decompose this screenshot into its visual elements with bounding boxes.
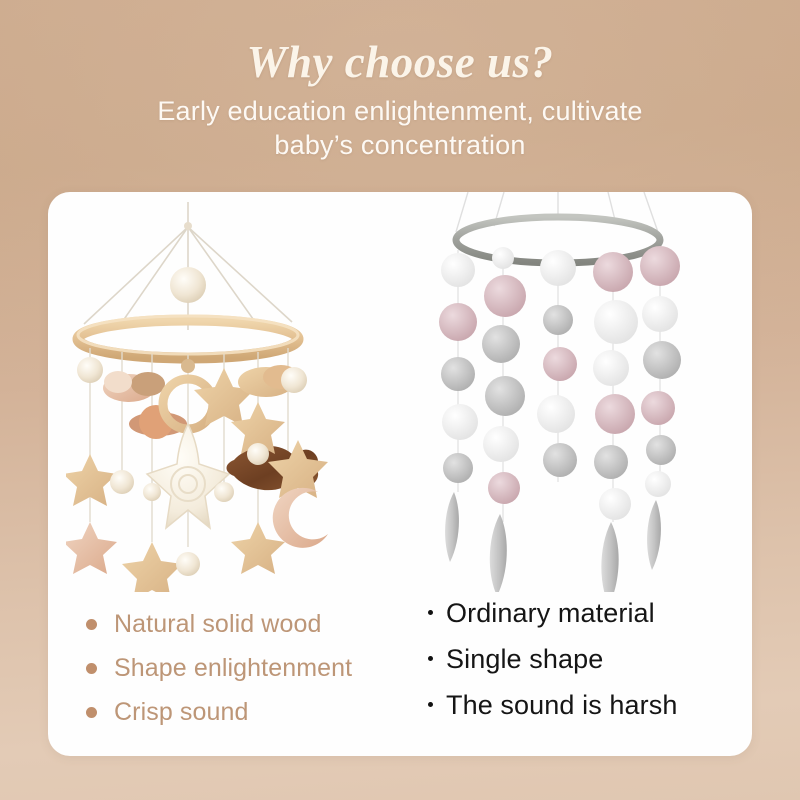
wooden-star — [66, 454, 117, 506]
felt-ball — [543, 443, 577, 477]
list-item: Shape enlightenment — [86, 646, 416, 690]
crochet-ball — [247, 443, 269, 465]
mobile-top-knot — [184, 222, 192, 230]
feature-lists: Natural solid wood Shape enlightenment C… — [48, 588, 752, 756]
cons-item-label: The sound is harsh — [446, 690, 677, 721]
bullet-dot-icon — [428, 656, 433, 661]
promo-banner: Why choose us? Early education enlighten… — [0, 0, 800, 800]
crochet-ball — [176, 552, 200, 576]
felt-ball — [543, 347, 577, 381]
subtitle-line-1: Early education enlightenment, cultivate — [0, 94, 800, 128]
felt-ball — [543, 305, 573, 335]
pros-list: Natural solid wood Shape enlightenment C… — [86, 602, 416, 734]
bullet-dot-icon — [86, 707, 97, 718]
wooden-feather — [445, 492, 459, 562]
cons-item-label: Single shape — [446, 644, 603, 675]
list-item: Crisp sound — [86, 690, 416, 734]
felt-ball — [441, 357, 475, 391]
cons-item-label: Ordinary material — [446, 598, 655, 629]
felt-ball — [640, 246, 680, 286]
wooden-hoop — [78, 316, 298, 358]
bullet-dot-icon — [86, 663, 97, 674]
felt-ball — [645, 471, 671, 497]
crochet-ball — [110, 470, 134, 494]
felt-ball — [599, 488, 631, 520]
wooden-mobile-photo — [66, 192, 396, 592]
felt-ball — [641, 391, 675, 425]
heading-block: Why choose us? Early education enlighten… — [0, 36, 800, 162]
felt-ball — [540, 250, 576, 286]
felt-ball — [439, 303, 477, 341]
bullet-dot-icon — [86, 619, 97, 630]
pros-item-label: Crisp sound — [114, 698, 249, 727]
crochet-ball — [214, 482, 234, 502]
list-item: Natural solid wood — [86, 602, 416, 646]
crochet-ball — [281, 367, 307, 393]
list-item: Single shape — [428, 644, 748, 690]
cons-list: Ordinary material Single shape The sound… — [428, 598, 748, 736]
felt-ball-mobile-photo — [408, 192, 734, 592]
comparison-card: Natural solid wood Shape enlightenment C… — [48, 192, 752, 756]
felt-ball — [594, 300, 638, 344]
page-title: Why choose us? — [0, 36, 800, 88]
felt-ball — [593, 252, 633, 292]
felt-ball — [646, 435, 676, 465]
felt-ball — [643, 341, 681, 379]
saturn-shape — [129, 405, 187, 439]
felt-ball — [593, 350, 629, 386]
felt-ball — [594, 445, 628, 479]
felt-ball — [485, 376, 525, 416]
felt-ball — [482, 325, 520, 363]
list-item: Ordinary material — [428, 598, 748, 644]
felt-ball — [443, 453, 473, 483]
wooden-star — [122, 542, 182, 592]
felt-ball — [441, 253, 475, 287]
felt-ball — [442, 404, 478, 440]
felt-ball — [484, 275, 526, 317]
felt-ball — [537, 395, 575, 433]
felt-ball — [483, 426, 519, 462]
list-item: The sound is harsh — [428, 690, 748, 736]
felt-ball — [488, 472, 520, 504]
crochet-ball — [143, 483, 161, 501]
bullet-dot-icon — [428, 610, 433, 615]
felt-ball — [642, 296, 678, 332]
cloud-shape — [103, 371, 165, 402]
subtitle-line-2: baby’s concentration — [0, 128, 800, 162]
pros-item-label: Natural solid wood — [114, 610, 321, 639]
wooden-bead — [181, 359, 195, 373]
wooden-feather — [647, 500, 661, 570]
crochet-ball — [77, 357, 103, 383]
wooden-feather — [490, 514, 507, 592]
wooden-feather — [601, 522, 618, 592]
mobile-strings — [84, 202, 292, 330]
pros-item-label: Shape enlightenment — [114, 654, 352, 683]
felt-ball — [595, 394, 635, 434]
felt-ball — [492, 247, 514, 269]
bullet-dot-icon — [428, 702, 433, 707]
crochet-ball-top — [170, 267, 206, 303]
page-subtitle: Early education enlightenment, cultivate… — [0, 94, 800, 162]
wooden-star — [66, 522, 117, 574]
